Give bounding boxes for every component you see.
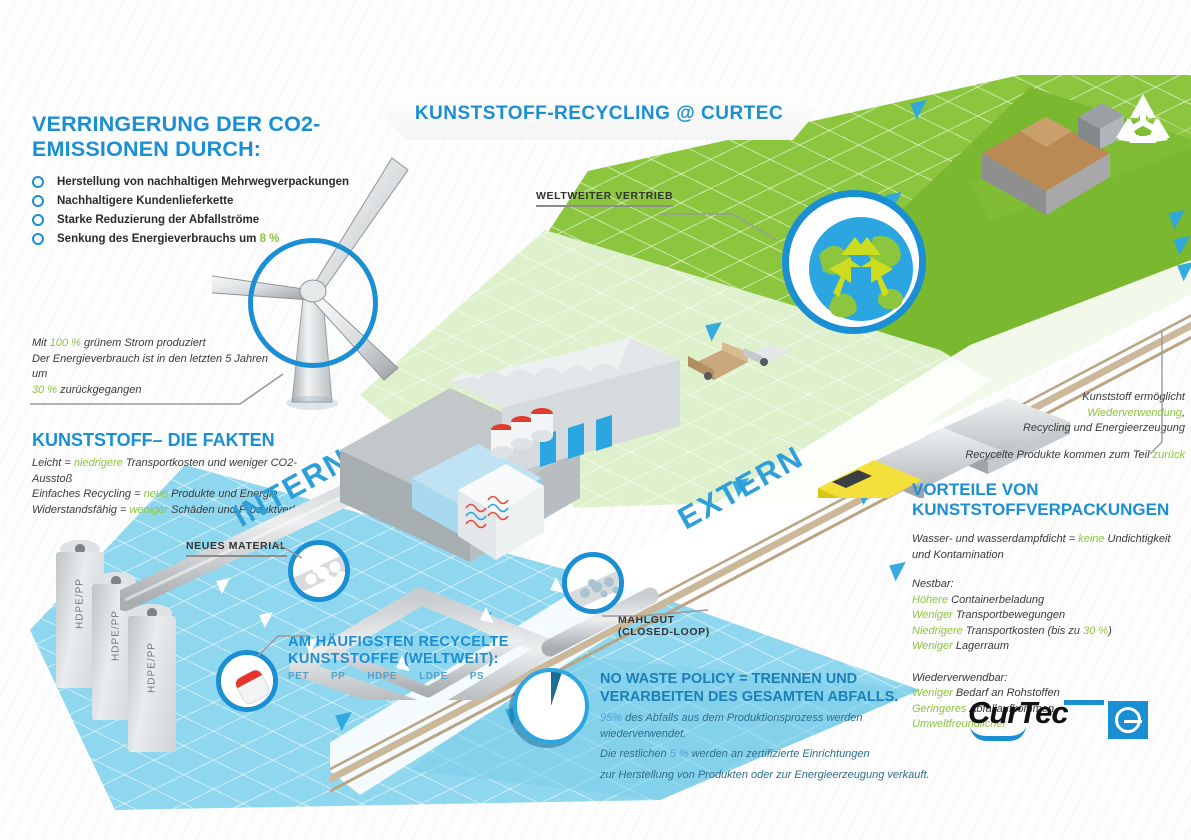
co2-item-label: Nachhaltigere Kundenlieferkette	[57, 195, 233, 207]
weltweiter-vertrieb-leader	[660, 200, 790, 240]
nowaste-line2-highlight: 5 %	[670, 748, 689, 760]
benefit-highlight: Höhere	[912, 594, 948, 606]
benefit-highlight: Weniger	[912, 640, 953, 652]
facts-line-pre: Leicht =	[32, 457, 74, 469]
silo-label: HDPE/PP	[75, 558, 86, 650]
benefits-intro-highlight: keine	[1078, 533, 1104, 545]
benefit-highlight: Niedrigere	[912, 625, 963, 637]
bullet-ring-icon	[32, 214, 44, 226]
benefits-group2-title: Wiederverwendbar:	[912, 671, 1184, 687]
benefit-highlight: Weniger	[912, 609, 953, 621]
curtec-logo[interactable]: CurTec	[968, 695, 1148, 747]
no-waste-policy-section: NO WASTE POLICY = TRENNEN UND VERARBEITE…	[600, 670, 930, 783]
recycled-plastics-leader	[252, 626, 312, 660]
benefits-group1-title: Nestbar:	[912, 577, 1184, 593]
neues-material-label-wrap: NEUES MATERIAL	[186, 540, 287, 557]
benefit-text-2: )	[1108, 625, 1112, 637]
bullet-ring-icon	[32, 233, 44, 245]
benefits-heading-line2: KUNSTSTOFFVERPACKUNGEN	[912, 500, 1169, 519]
benefits-heading-line1: VORTEILE VON	[912, 480, 1039, 499]
recycling-symbol-badge	[1112, 90, 1174, 152]
mahlgut-label-line2: (CLOSED-LOOP)	[618, 626, 758, 638]
benefit-text: Containerbeladung	[948, 594, 1044, 606]
global-distribution-badge[interactable]	[782, 190, 926, 334]
green-power-line1-highlight: 100 %	[50, 337, 81, 349]
nowaste-heading-line2: VERARBEITEN DES GESAMTEN ABFALLS.	[600, 689, 898, 705]
green-power-line1-pre: Mit	[32, 337, 50, 349]
nowaste-line2-post: werden an zertifizierte Einrichtungen	[689, 748, 870, 760]
bullet-ring-icon	[32, 195, 44, 207]
facts-line-highlight: niedrigere	[74, 457, 123, 469]
page-title: KUNSTSTOFF-RECYCLING @ CURTEC	[415, 103, 783, 125]
benefit-text: Transportbewegungen	[953, 609, 1065, 621]
nowaste-line3: zur Herstellung von Produkten oder zur E…	[600, 768, 930, 784]
bullet-ring-icon	[32, 176, 44, 188]
nowaste-line2-pre: Die restlichen	[600, 748, 670, 760]
benefit-text: Lagerraum	[953, 640, 1009, 652]
infographic-canvas: KUNSTSTOFF-RECYCLING @ CURTEC VERRINGERU…	[0, 0, 1191, 840]
nowaste-line1-highlight: 95%	[600, 712, 622, 724]
pie-chart-graphic	[513, 668, 589, 744]
delivery-truck	[678, 330, 798, 390]
recycled-plastics-text: AM HÄUFIGSTEN RECYCELTE KUNSTSTOFFE (WEL…	[288, 634, 538, 682]
recycled-type: LDPE	[419, 671, 448, 682]
facts-line-pre: Widerstandsfähig =	[32, 504, 129, 516]
recycled-heading-line1: AM HÄUFIGSTEN RECYCELTE	[288, 634, 538, 651]
benefit-text: Transportkosten (bis zu	[963, 625, 1083, 637]
neues-material-leader	[276, 540, 306, 562]
logo-swoosh-icon	[970, 725, 1026, 741]
recycled-type: PS	[470, 671, 484, 682]
factory-illustration	[330, 330, 680, 630]
recycled-heading-line2: KUNSTSTOFFE (WELTWEIT):	[288, 651, 538, 668]
benefit-highlight-2: 30 %	[1083, 625, 1108, 637]
neues-material-label: NEUES MATERIAL	[186, 540, 287, 557]
recycle-icon	[1112, 90, 1174, 152]
recycled-type-list: PET PP HDPE LDPE PS	[288, 671, 538, 682]
mahlgut-leader	[600, 596, 710, 620]
nowaste-line1-post: des Abfalls aus dem Produktionsprozess w…	[600, 712, 863, 740]
weltweiter-vertrieb-label-wrap: WELTWEITER VERTRIEB	[536, 190, 673, 207]
weltweiter-vertrieb-label: WELTWEITER VERTRIEB	[536, 190, 673, 207]
logo-mark-icon	[1108, 701, 1148, 739]
logo-bar-icon	[1064, 700, 1104, 705]
recycled-type: PET	[288, 671, 309, 682]
no-waste-pie-chart	[513, 668, 589, 744]
green-power-line1-post: grünem Strom produziert	[81, 337, 206, 349]
benefits-intro-pre: Wasser- und wasserdampfdicht =	[912, 533, 1078, 545]
nowaste-heading-line1: NO WASTE POLICY = TRENNEN UND	[600, 671, 857, 687]
recycled-type: HDPE	[367, 671, 397, 682]
rail-note-leader	[1148, 330, 1188, 460]
rail-note-line3-pre: Recycelte Produkte kommen zum Teil	[965, 449, 1152, 461]
recycled-type: PP	[331, 671, 345, 682]
title-ribbon: KUNSTSTOFF-RECYCLING @ CURTEC	[383, 88, 815, 140]
